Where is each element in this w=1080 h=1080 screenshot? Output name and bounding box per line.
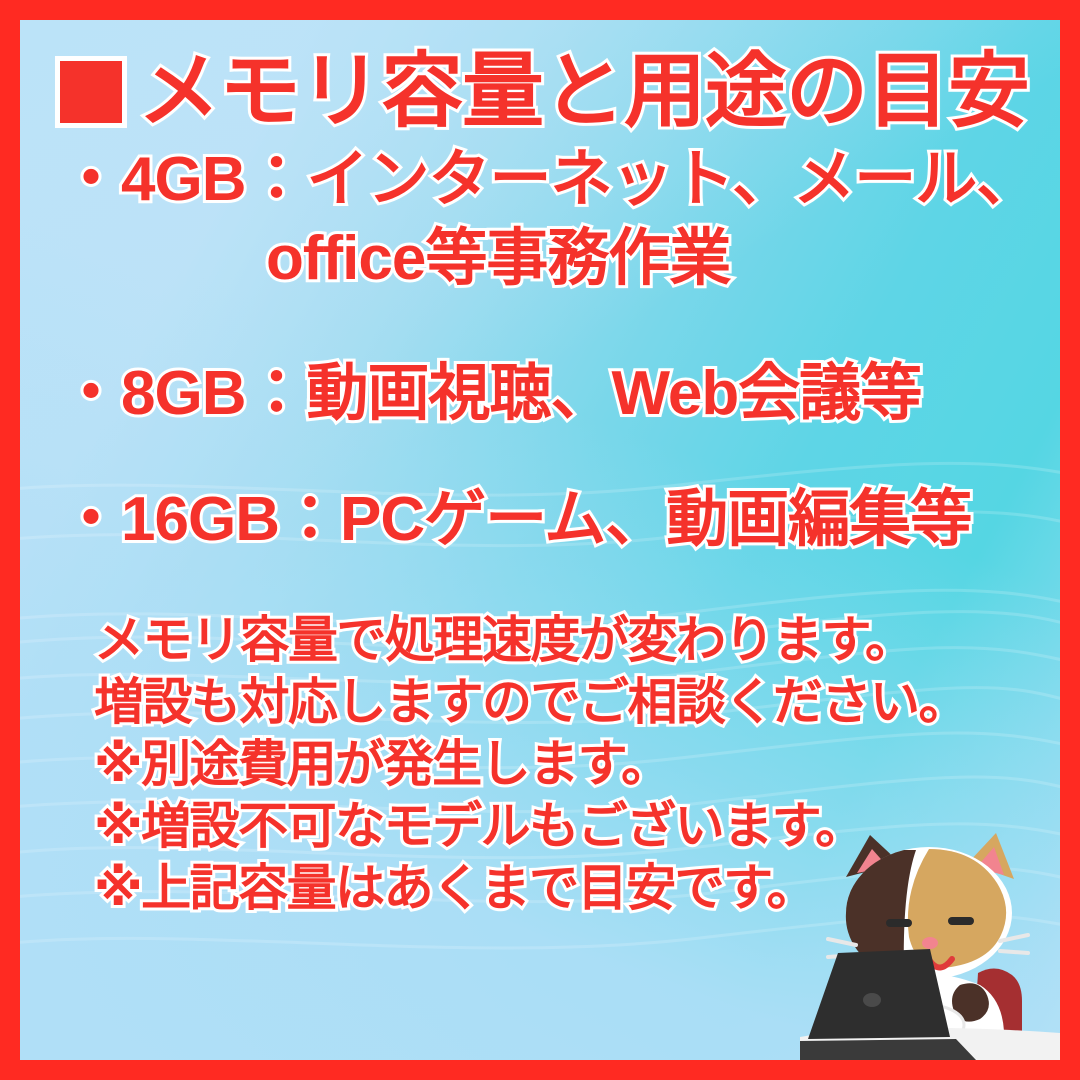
poster-frame: メモリ容量と用途の目安 ・4GB：インターネット、メール、 office等事務作…	[0, 0, 1080, 1080]
list-item: ・8GB：動画視聴、Web会議等	[46, 354, 1034, 433]
page-title-text: メモリ容量と用途の目安	[138, 50, 1029, 134]
note-line-2: 増設も対応しますのでご相談ください。	[94, 671, 1034, 733]
capacity-8gb-line1: ・8GB：動画視聴、Web会議等	[46, 354, 1034, 433]
poster-canvas: メモリ容量と用途の目安 ・4GB：インターネット、メール、 office等事務作…	[20, 20, 1060, 1060]
page-title: メモリ容量と用途の目安	[58, 50, 1034, 134]
note-line-1: メモリ容量で処理速度が変わります。	[94, 609, 1034, 671]
notes-block: メモリ容量で処理速度が変わります。 増設も対応しますのでご相談ください。 ※別途…	[94, 609, 1034, 919]
note-line-5: ※上記容量はあくまで目安です。	[94, 857, 1034, 919]
capacity-16gb-line1: ・16GB：PCゲーム、動画編集等	[46, 480, 1034, 559]
capacity-list: ・4GB：インターネット、メール、 office等事務作業 ・8GB：動画視聴、…	[46, 140, 1034, 559]
square-bullet-icon	[60, 61, 122, 123]
list-item: ・16GB：PCゲーム、動画編集等	[46, 480, 1034, 559]
poster-content: メモリ容量と用途の目安 ・4GB：インターネット、メール、 office等事務作…	[20, 20, 1060, 1060]
capacity-4gb-line2: office等事務作業	[46, 219, 1034, 298]
capacity-4gb-line1: ・4GB：インターネット、メール、	[46, 140, 1034, 219]
note-line-4: ※増設不可なモデルもございます。	[94, 795, 1034, 857]
list-item: ・4GB：インターネット、メール、 office等事務作業	[46, 140, 1034, 299]
note-line-3: ※別途費用が発生します。	[94, 733, 1034, 795]
